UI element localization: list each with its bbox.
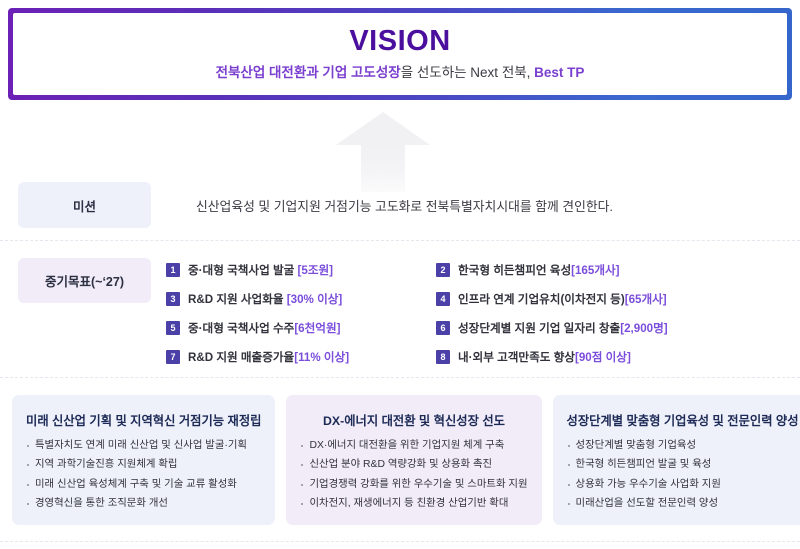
strategy-card-title: 미래 신산업 기획 및 지역혁신 거점기능 재정립 [26, 411, 261, 429]
strategy-list-item: 지역 과학기술진흥 지원체계 확립 [26, 460, 261, 470]
goal-number-badge: 3 [166, 292, 180, 306]
vision-subtitle-plain: 을 선도하는 Next 전북, [401, 65, 534, 80]
strategy-list-item: 한국형 히든챔피언 발굴 및 육성 [567, 460, 799, 470]
up-arrow-icon [336, 112, 430, 192]
strategy-card: 성장단계별 맞춤형 기업육성 및 전문인력 양성성장단계별 맞춤형 기업육성한국… [553, 395, 800, 525]
strategy-card-title: 성장단계별 맞춤형 기업육성 및 전문인력 양성 [567, 411, 799, 429]
strategy-cards: 미래 신산업 기획 및 지역혁신 거점기능 재정립특별자치도 연계 미래 신산업… [12, 395, 788, 525]
goal-number-badge: 8 [436, 350, 450, 364]
goal-item: 3R&D 지원 사업화율 [30% 이상] [166, 287, 436, 311]
strategy-card-title: DX-에너지 대전환 및 혁신성장 선도 [300, 411, 527, 429]
arrow-head [336, 112, 430, 145]
strategy-list-item: 신산업 분야 R&D 역량강화 및 상용화 촉진 [300, 460, 527, 470]
goal-number-badge: 6 [436, 321, 450, 335]
strategy-card-list: 특별자치도 연계 미래 신산업 및 신사업 발굴·기획지역 과학기술진흥 지원체… [26, 441, 261, 510]
strategy-card-list: 성장단계별 맞춤형 기업육성한국형 히든챔피언 발굴 및 육성상용화 가능 우수… [567, 441, 799, 510]
mission-text: 신산업육성 및 기업지원 거점기능 고도화로 전북특별자치시대를 함께 견인한다… [196, 182, 613, 228]
goal-number-badge: 7 [166, 350, 180, 364]
strategy-list-item: DX·에너지 대전환을 위한 기업지원 체계 구축 [300, 441, 527, 451]
goals-label: 중기목표(~‘27) [18, 258, 151, 303]
strategy-card-list: DX·에너지 대전환을 위한 기업지원 체계 구축신산업 분야 R&D 역량강화… [300, 441, 527, 510]
goal-label-text: 내·외부 고객만족도 향상 [458, 351, 575, 364]
goal-target-value: [2,900명] [620, 322, 667, 335]
vision-subtitle-accent-2: Best TP [534, 65, 584, 80]
goal-label: R&D 지원 사업화율 [30% 이상] [188, 291, 342, 307]
goal-target-value: [65개사] [625, 293, 667, 306]
strategy-list-item: 미래 신산업 육성체계 구축 및 기술 교류 활성화 [26, 480, 261, 490]
divider-bottom [0, 541, 800, 542]
divider-goals-top [0, 240, 800, 241]
vision-subtitle: 전북산업 대전환과 기업 고도성장을 선도하는 Next 전북, Best TP [216, 65, 585, 81]
goal-label-text: R&D 지원 매출증가율 [188, 351, 294, 364]
goal-label-text: 중·대형 국책사업 발굴 [188, 264, 298, 277]
goal-target-value: [6천억원] [294, 322, 340, 335]
goal-label: 중·대형 국책사업 수주[6천억원] [188, 320, 340, 336]
vision-box: VISION 전북산업 대전환과 기업 고도성장을 선도하는 Next 전북, … [8, 8, 792, 100]
strategy-card: 미래 신산업 기획 및 지역혁신 거점기능 재정립특별자치도 연계 미래 신산업… [12, 395, 275, 525]
vision-title: VISION [349, 26, 450, 58]
goal-label: 한국형 히든챔피언 육성[165개사] [458, 262, 620, 278]
goal-label: 내·외부 고객만족도 향상[90점 이상] [458, 349, 631, 365]
goal-target-value: [165개사] [571, 264, 619, 277]
mission-label: 미션 [18, 182, 151, 228]
goal-item: 2한국형 히든챔피언 육성[165개사] [436, 258, 796, 282]
goal-label: 중·대형 국책사업 발굴 [5조원] [188, 262, 333, 278]
goals-section: 중기목표(~‘27) 1중·대형 국책사업 발굴 [5조원]2한국형 히든챔피언… [0, 258, 800, 368]
vision-box-inner: VISION 전북산업 대전환과 기업 고도성장을 선도하는 Next 전북, … [13, 13, 787, 95]
strategy-list-item: 성장단계별 맞춤형 기업육성 [567, 441, 799, 451]
goal-label: 인프라 연계 기업유치(이차전지 등)[65개사] [458, 291, 667, 307]
goal-label-text: 중·대형 국책사업 수주 [188, 322, 294, 335]
vision-subtitle-accent-1: 전북산업 대전환과 기업 고도성장 [216, 65, 401, 80]
divider-strategies-top [0, 377, 800, 378]
goal-item: 6성장단계별 지원 기업 일자리 창출[2,900명] [436, 316, 796, 340]
goal-item: 8내·외부 고객만족도 향상[90점 이상] [436, 345, 796, 369]
goal-item: 5중·대형 국책사업 수주[6천억원] [166, 316, 436, 340]
goal-target-value: [5조원] [298, 264, 334, 277]
strategy-list-item: 기업경쟁력 강화를 위한 우수기술 및 스마트화 지원 [300, 480, 527, 490]
strategy-list-item: 상용화 가능 우수기술 사업화 지원 [567, 480, 799, 490]
mission-section: 미션 신산업육성 및 기업지원 거점기능 고도화로 전북특별자치시대를 함께 견… [0, 182, 800, 228]
strategy-list-item: 경영혁신을 통한 조직문화 개선 [26, 499, 261, 509]
goal-target-value: [30% 이상] [287, 293, 342, 306]
goal-label-text: 한국형 히든챔피언 육성 [458, 264, 571, 277]
strategy-list-item: 특별자치도 연계 미래 신산업 및 신사업 발굴·기획 [26, 441, 261, 451]
goal-number-badge: 1 [166, 263, 180, 277]
goal-item: 4인프라 연계 기업유치(이차전지 등)[65개사] [436, 287, 796, 311]
goal-number-badge: 4 [436, 292, 450, 306]
goal-label-text: 인프라 연계 기업유치(이차전지 등) [458, 293, 625, 306]
goal-item: 7R&D 지원 매출증가율[11% 이상] [166, 345, 436, 369]
goal-target-value: [90점 이상] [575, 351, 631, 364]
goals-grid: 1중·대형 국책사업 발굴 [5조원]2한국형 히든챔피언 육성[165개사]3… [166, 258, 796, 369]
goal-number-badge: 2 [436, 263, 450, 277]
goal-label: R&D 지원 매출증가율[11% 이상] [188, 349, 349, 365]
goal-item: 1중·대형 국책사업 발굴 [5조원] [166, 258, 436, 282]
strategy-list-item: 미래산업을 선도할 전문인력 양성 [567, 499, 799, 509]
goal-target-value: [11% 이상] [294, 351, 349, 364]
strategy-list-item: 이차전지, 재생에너지 등 친환경 산업기반 확대 [300, 499, 527, 509]
goal-number-badge: 5 [166, 321, 180, 335]
goal-label-text: 성장단계별 지원 기업 일자리 창출 [458, 322, 620, 335]
strategy-card: DX-에너지 대전환 및 혁신성장 선도DX·에너지 대전환을 위한 기업지원 … [286, 395, 541, 525]
goal-label-text: R&D 지원 사업화율 [188, 293, 287, 306]
goal-label: 성장단계별 지원 기업 일자리 창출[2,900명] [458, 320, 668, 336]
